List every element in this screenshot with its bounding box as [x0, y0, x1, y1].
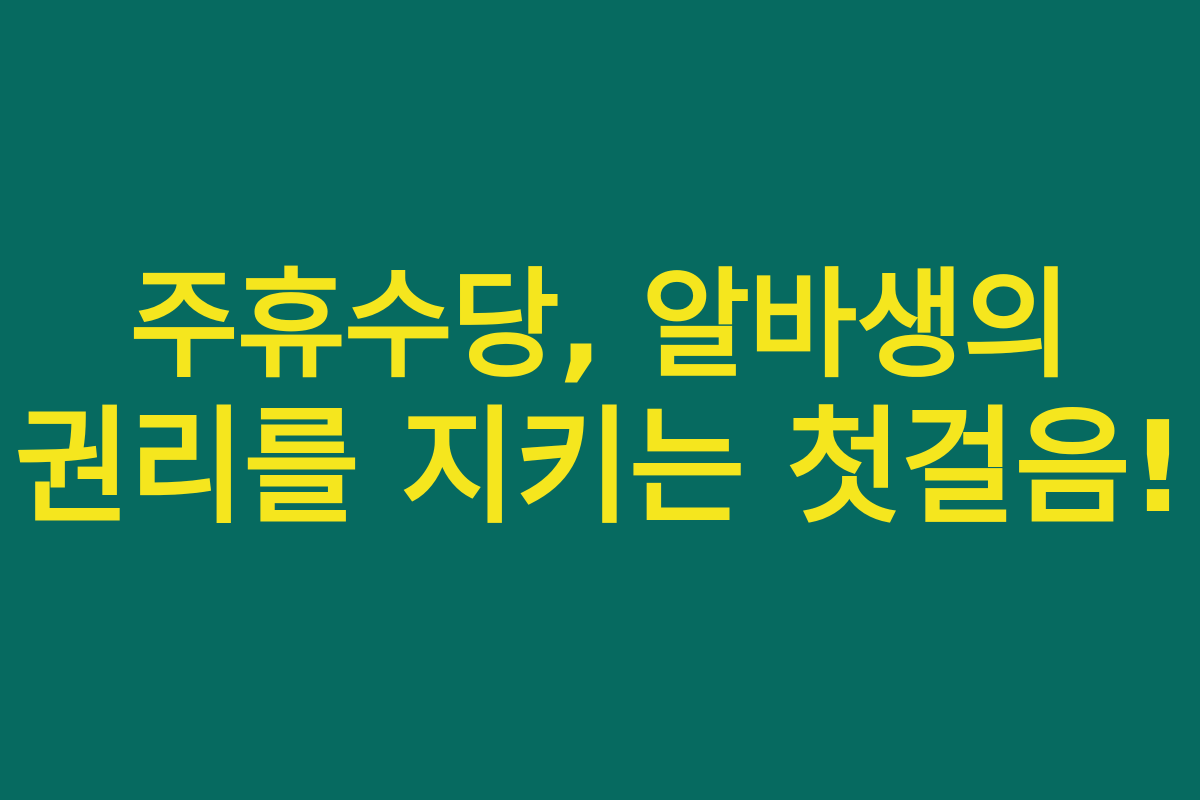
headline-block: 주휴수당, 알바생의 권리를 지키는 첫걸음!	[0, 256, 1200, 541]
headline-line-2: 권리를 지키는 첫걸음!	[0, 394, 1200, 541]
banner-canvas: 주휴수당, 알바생의 권리를 지키는 첫걸음!	[0, 0, 1200, 800]
headline-line-1: 주휴수당, 알바생의	[0, 256, 1200, 394]
